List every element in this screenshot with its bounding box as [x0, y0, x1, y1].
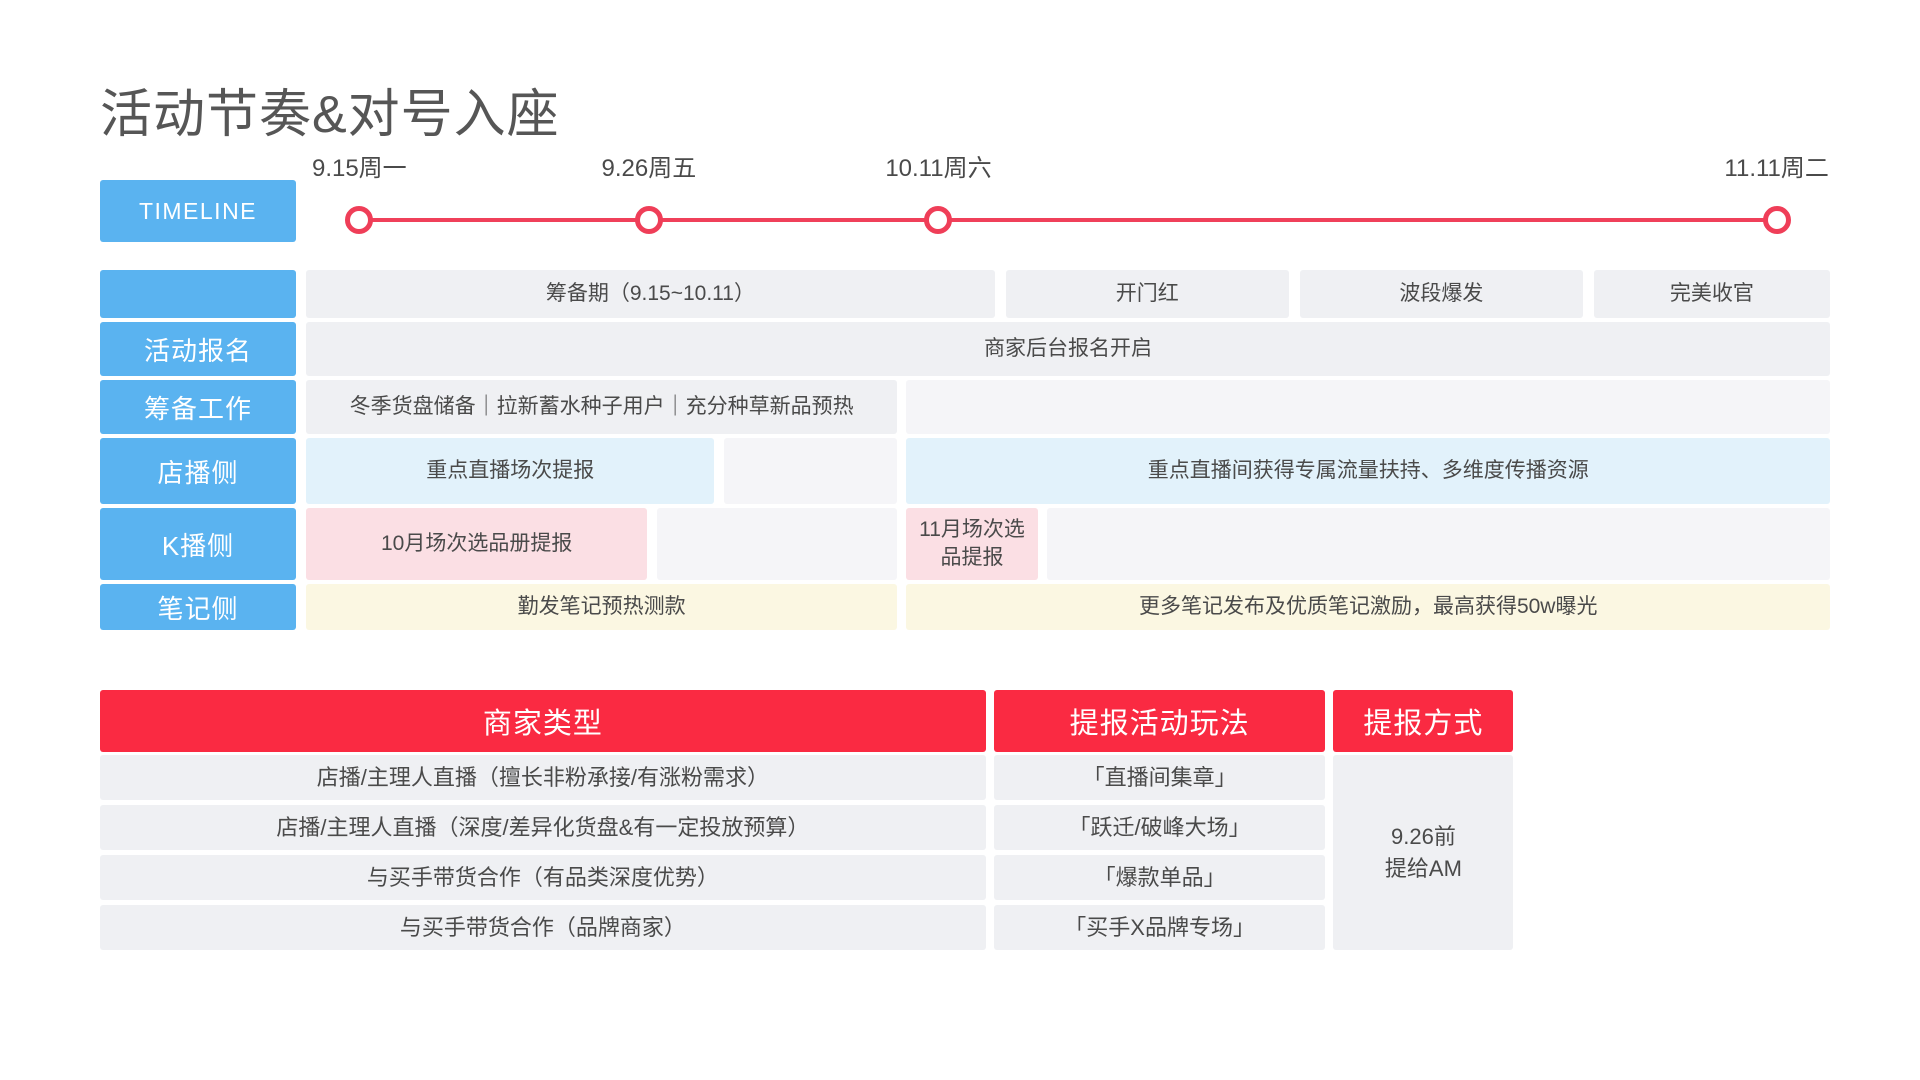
matrix-row: 笔记侧勤发笔记预热测款更多笔记发布及优质笔记激励，最高获得50w曝光 — [100, 584, 1830, 630]
timeline-date-1: 9.26周五 — [602, 148, 697, 183]
merchant-type-cell: 与买手带货合作（品牌商家） — [100, 905, 986, 950]
timeline-date-3: 11.11周二 — [1724, 148, 1829, 183]
row-label-0: 活动报名 — [100, 322, 296, 376]
phase-cell-0: 筹备期（9.15~10.11） — [306, 270, 995, 318]
timeline-date-0: 9.15周一 — [312, 148, 407, 183]
matrix-cell: 更多笔记发布及优质笔记激励，最高获得50w曝光 — [906, 584, 1830, 630]
timeline-node-2[interactable] — [924, 206, 952, 234]
play-type-cell: 「跃迁/破峰大场」 — [994, 805, 1324, 850]
timeline-line — [358, 218, 1778, 222]
play-type-cell: 「爆款单品」 — [994, 855, 1324, 900]
matrix-cell: 商家后台报名开启 — [306, 322, 1830, 376]
row-label-1: 筹备工作 — [100, 380, 296, 434]
timeline-label: TIMELINE — [100, 180, 296, 242]
matrix-cell — [1047, 508, 1830, 580]
matrix-cell — [906, 380, 1830, 434]
matrix-cell: 10月场次选品册提报 — [306, 508, 647, 580]
slide-canvas: 活动节奏&对号入座 TIMELINE 9.15周一9.26周五10.11周六11… — [0, 0, 1920, 1080]
timeline-date-2: 10.11周六 — [885, 148, 991, 183]
phase-cell-2: 波段爆发 — [1300, 270, 1583, 318]
timeline-track: 9.15周一9.26周五10.11周六11.11周二 — [306, 180, 1830, 242]
row-track: 商家后台报名开启 — [306, 322, 1830, 376]
matrix-cell: 重点直播场次提报 — [306, 438, 714, 504]
play-type-cell: 「买手X品牌专场」 — [994, 905, 1324, 950]
phase-header-label — [100, 270, 296, 318]
row-track: 勤发笔记预热测款更多笔记发布及优质笔记激励，最高获得50w曝光 — [306, 584, 1830, 630]
table-header-0: 商家类型 — [100, 690, 986, 752]
phase-cell-1: 开门红 — [1006, 270, 1289, 318]
timeline-node-3[interactable] — [1763, 206, 1791, 234]
matrix-row: K播侧10月场次选品册提报11月场次选 品提报 — [100, 508, 1830, 580]
timeline-node-0[interactable] — [345, 206, 373, 234]
timeline-node-1[interactable] — [635, 206, 663, 234]
matrix-cell — [657, 508, 898, 580]
matrix-cell: 11月场次选 品提报 — [906, 508, 1037, 580]
matrix-cell — [724, 438, 898, 504]
row-track: 10月场次选品册提报11月场次选 品提报 — [306, 508, 1830, 580]
matrix-cell: 勤发笔记预热测款 — [306, 584, 897, 630]
phase-cell-3: 完美收官 — [1594, 270, 1830, 318]
merchant-type-cell: 店播/主理人直播（深度/差异化货盘&有一定投放预算） — [100, 805, 986, 850]
matrix-row: 店播侧重点直播场次提报重点直播间获得专属流量扶持、多维度传播资源 — [100, 438, 1830, 504]
matrix-cell: 重点直播间获得专属流量扶持、多维度传播资源 — [906, 438, 1830, 504]
table-header-row: 商家类型提报活动玩法提报方式 — [100, 690, 1830, 752]
row-label-3: K播侧 — [100, 508, 296, 580]
row-label-4: 笔记侧 — [100, 584, 296, 630]
merchant-type-cell: 与买手带货合作（有品类深度优势） — [100, 855, 986, 900]
row-track: 重点直播场次提报重点直播间获得专属流量扶持、多维度传播资源 — [306, 438, 1830, 504]
matrix-cell: 冬季货盘储备｜拉新蓄水种子用户｜充分种草新品预热 — [306, 380, 897, 434]
merchant-table: 商家类型提报活动玩法提报方式 店播/主理人直播（擅长非粉承接/有涨粉需求）店播/… — [100, 690, 1830, 950]
merchant-type-cell: 店播/主理人直播（擅长非粉承接/有涨粉需求） — [100, 755, 986, 800]
play-type-cell: 「直播间集章」 — [994, 755, 1324, 800]
phase-header-row: 筹备期（9.15~10.11）开门红波段爆发完美收官 — [100, 270, 1830, 318]
row-label-2: 店播侧 — [100, 438, 296, 504]
timeline-section: TIMELINE 9.15周一9.26周五10.11周六11.11周二 — [100, 180, 1830, 242]
submit-method-cell: 9.26前 提给AM — [1333, 755, 1513, 950]
row-track: 冬季货盘储备｜拉新蓄水种子用户｜充分种草新品预热 — [306, 380, 1830, 434]
table-header-1: 提报活动玩法 — [994, 690, 1324, 752]
matrix-row: 活动报名商家后台报名开启 — [100, 322, 1830, 376]
schedule-matrix: 筹备期（9.15~10.11）开门红波段爆发完美收官 活动报名商家后台报名开启筹… — [100, 270, 1830, 634]
page-title: 活动节奏&对号入座 — [100, 72, 560, 147]
matrix-row: 筹备工作冬季货盘储备｜拉新蓄水种子用户｜充分种草新品预热 — [100, 380, 1830, 434]
table-header-2: 提报方式 — [1333, 690, 1513, 752]
table-body: 店播/主理人直播（擅长非粉承接/有涨粉需求）店播/主理人直播（深度/差异化货盘&… — [100, 755, 1830, 950]
phase-header-track: 筹备期（9.15~10.11）开门红波段爆发完美收官 — [306, 270, 1830, 318]
